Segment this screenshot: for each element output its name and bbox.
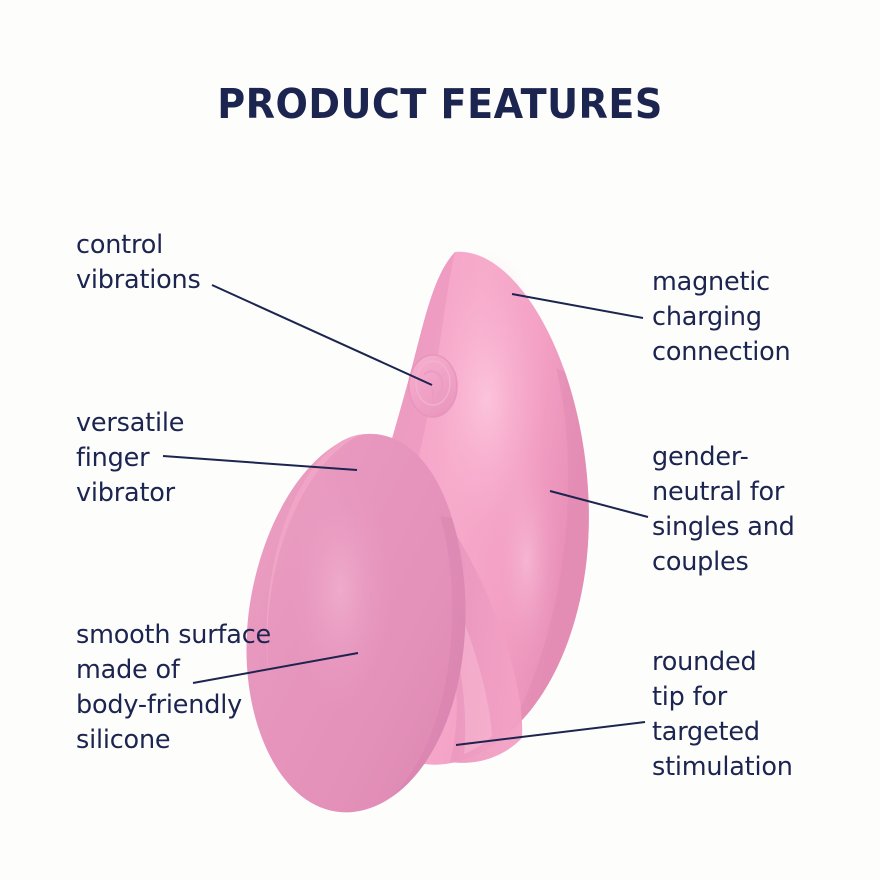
product-features-infographic: PRODUCT FEATURES control vibrations vers… [0, 0, 880, 880]
callout-control-vibrations: control vibrations [76, 228, 201, 298]
callout-gender-neutral: gender- neutral for singles and couples [652, 440, 795, 580]
page-title: PRODUCT FEATURES [31, 80, 849, 128]
callout-versatile-finger-vibrator: versatile finger vibrator [76, 406, 184, 511]
callout-magnetic-charging-connection: magnetic charging connection [652, 265, 791, 370]
callout-smooth-surface-silicone: smooth surface made of body-friendly sil… [76, 618, 271, 758]
vibration-control-button[interactable] [409, 355, 457, 417]
callout-rounded-tip: rounded tip for targeted stimulation [652, 645, 793, 785]
